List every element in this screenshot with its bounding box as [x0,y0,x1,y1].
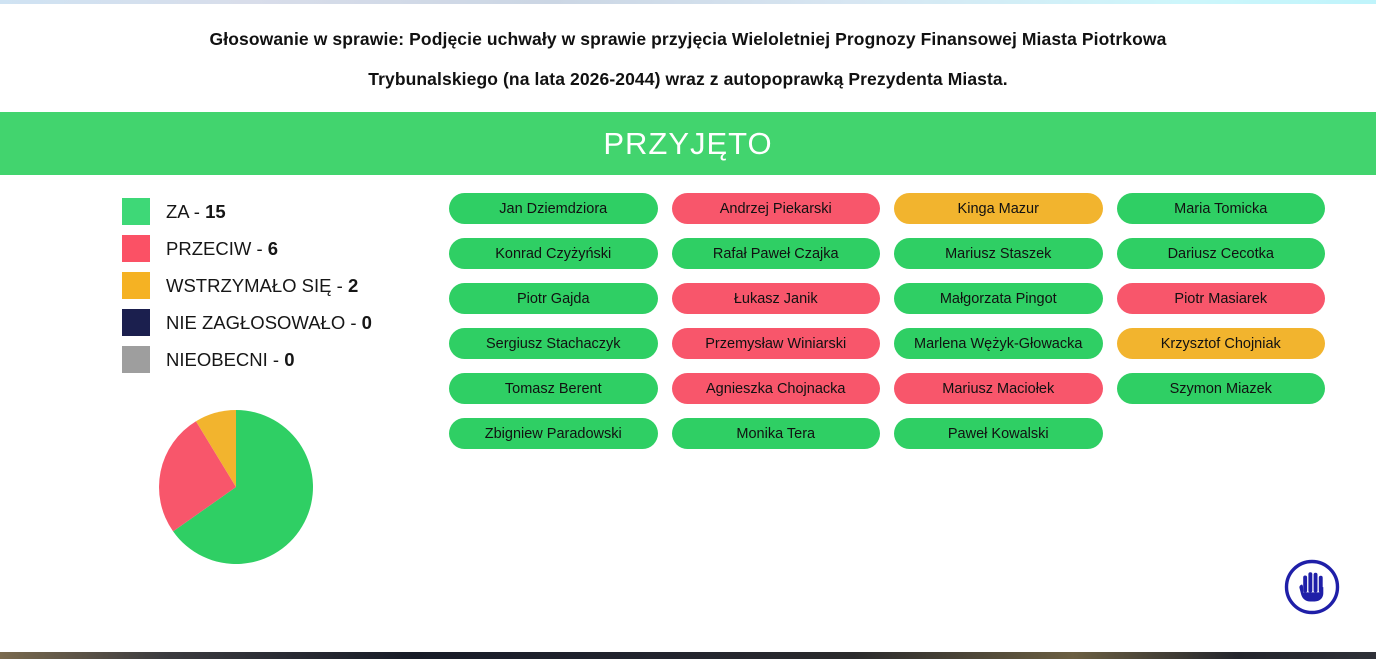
voter-name: Krzysztof Chojniak [1161,336,1281,352]
voter-chip[interactable]: Mariusz Staszek [894,238,1103,269]
voter-chip-placeholder [1117,418,1326,449]
voter-chip[interactable]: Zbigniew Paradowski [449,418,658,449]
voter-name: Konrad Czyżyński [495,246,611,262]
voter-name: Piotr Masiarek [1174,291,1267,307]
voter-name: Paweł Kowalski [948,426,1049,442]
legend-label-przeciw: PRZECIW - 6 [166,238,278,260]
legend-label-count: 0 [362,312,372,333]
voter-chip[interactable]: Andrzej Piekarski [672,193,881,224]
voting-results-screen: Głosowanie w sprawie: Podjęcie uchwały w… [0,0,1376,659]
legend-label-separator: - [332,275,348,296]
legend-label-separator: - [345,312,361,333]
voter-chip[interactable]: Maria Tomicka [1117,193,1326,224]
voter-chip-row: Konrad CzyżyńskiRafał Paweł CzajkaMarius… [449,238,1339,283]
voter-chip[interactable]: Konrad Czyżyński [449,238,658,269]
voter-name: Zbigniew Paradowski [485,426,622,442]
voter-chip[interactable]: Rafał Paweł Czajka [672,238,881,269]
legend-label-wstrzymalo-sie: WSTRZYMAŁO SIĘ - 2 [166,275,358,297]
voter-chip-row: Tomasz BerentAgnieszka ChojnackaMariusz … [449,373,1339,418]
legend-label-text: WSTRZYMAŁO SIĘ [166,275,332,296]
legend-label-nie-zaglosowalo: NIE ZAGŁOSOWAŁO - 0 [166,312,372,334]
legend-row-za: ZA - 15 [122,193,452,230]
voter-name: Małgorzata Pingot [940,291,1057,307]
voter-name: Kinga Mazur [958,201,1039,217]
voter-name: Maria Tomicka [1174,201,1267,217]
voter-chip[interactable]: Dariusz Cecotka [1117,238,1326,269]
voter-chip[interactable]: Szymon Miazek [1117,373,1326,404]
vote-pie-chart [158,409,314,565]
voter-name: Mariusz Maciołek [942,381,1054,397]
legend-swatch-wstrzymalo-sie [122,272,150,299]
legend-label-za: ZA - 15 [166,201,226,223]
voter-name: Piotr Gajda [517,291,590,307]
voter-chip-row: Zbigniew ParadowskiMonika TeraPaweł Kowa… [449,418,1339,463]
legend-label-separator: - [189,201,205,222]
legend-label-separator: - [251,238,267,259]
raised-hand-in-circle-icon [1281,556,1343,618]
legend-swatch-za [122,198,150,225]
legend-row-przeciw: PRZECIW - 6 [122,230,452,267]
voter-name: Szymon Miazek [1170,381,1272,397]
vote-legend: ZA - 15PRZECIW - 6WSTRZYMAŁO SIĘ - 2NIE … [122,193,452,378]
voter-name: Rafał Paweł Czajka [713,246,839,262]
legend-swatch-nieobecni [122,346,150,373]
voter-chip[interactable]: Agnieszka Chojnacka [672,373,881,404]
voter-name: Andrzej Piekarski [720,201,832,217]
voter-chip-row: Jan DziemdzioraAndrzej PiekarskiKinga Ma… [449,193,1339,238]
page-title-line-2: Trybunalskiego (na lata 2026-2044) wraz … [368,59,1007,99]
voter-chip[interactable]: Kinga Mazur [894,193,1103,224]
voter-chip[interactable]: Piotr Gajda [449,283,658,314]
voter-chip-row: Piotr GajdaŁukasz JanikMałgorzata Pingot… [449,283,1339,328]
voter-chip[interactable]: Krzysztof Chojniak [1117,328,1326,359]
voter-name: Mariusz Staszek [945,246,1051,262]
legend-label-separator: - [268,349,284,370]
legend-row-nieobecni: NIEOBECNI - 0 [122,341,452,378]
legend-swatch-przeciw [122,235,150,262]
voter-chip[interactable]: Mariusz Maciołek [894,373,1103,404]
legend-row-nie-zaglosowalo: NIE ZAGŁOSOWAŁO - 0 [122,304,452,341]
voter-name: Jan Dziemdziora [499,201,607,217]
voter-chip[interactable]: Marlena Wężyk-Głowacka [894,328,1103,359]
legend-label-count: 15 [205,201,226,222]
legend-label-text: ZA [166,201,189,222]
voter-chips-grid: Jan DziemdzioraAndrzej PiekarskiKinga Ma… [449,193,1339,463]
voter-chip[interactable]: Sergiusz Stachaczyk [449,328,658,359]
pie-chart-svg [158,409,314,565]
voter-chip[interactable]: Przemysław Winiarski [672,328,881,359]
voter-name: Sergiusz Stachaczyk [486,336,621,352]
legend-label-text: NIEOBECNI [166,349,268,370]
legend-row-wstrzymalo-sie: WSTRZYMAŁO SIĘ - 2 [122,267,452,304]
voter-chip[interactable]: Tomasz Berent [449,373,658,404]
voter-chip[interactable]: Jan Dziemdziora [449,193,658,224]
result-banner: PRZYJĘTO [0,112,1376,175]
result-banner-text: PRZYJĘTO [603,126,772,162]
voter-name: Tomasz Berent [505,381,602,397]
bottom-decorative-bar [0,652,1376,659]
voter-name: Przemysław Winiarski [705,336,846,352]
voter-chip[interactable]: Piotr Masiarek [1117,283,1326,314]
voter-name: Agnieszka Chojnacka [706,381,845,397]
legend-label-count: 0 [284,349,294,370]
legend-label-count: 2 [348,275,358,296]
page-title: Głosowanie w sprawie: Podjęcie uchwały w… [0,4,1376,108]
voter-name: Marlena Wężyk-Głowacka [914,336,1082,352]
legend-label-text: PRZECIW [166,238,251,259]
page-title-line-1: Głosowanie w sprawie: Podjęcie uchwały w… [210,19,1167,59]
voter-name: Monika Tera [736,426,815,442]
legend-label-text: NIE ZAGŁOSOWAŁO [166,312,345,333]
voter-name: Łukasz Janik [734,291,818,307]
voter-chip[interactable]: Monika Tera [672,418,881,449]
legend-label-nieobecni: NIEOBECNI - 0 [166,349,295,371]
legend-swatch-nie-zaglosowalo [122,309,150,336]
voter-chip[interactable]: Paweł Kowalski [894,418,1103,449]
voter-chip-row: Sergiusz StachaczykPrzemysław WiniarskiM… [449,328,1339,373]
voter-chip[interactable]: Małgorzata Pingot [894,283,1103,314]
voter-name: Dariusz Cecotka [1168,246,1274,262]
voter-chip[interactable]: Łukasz Janik [672,283,881,314]
legend-label-count: 6 [268,238,278,259]
